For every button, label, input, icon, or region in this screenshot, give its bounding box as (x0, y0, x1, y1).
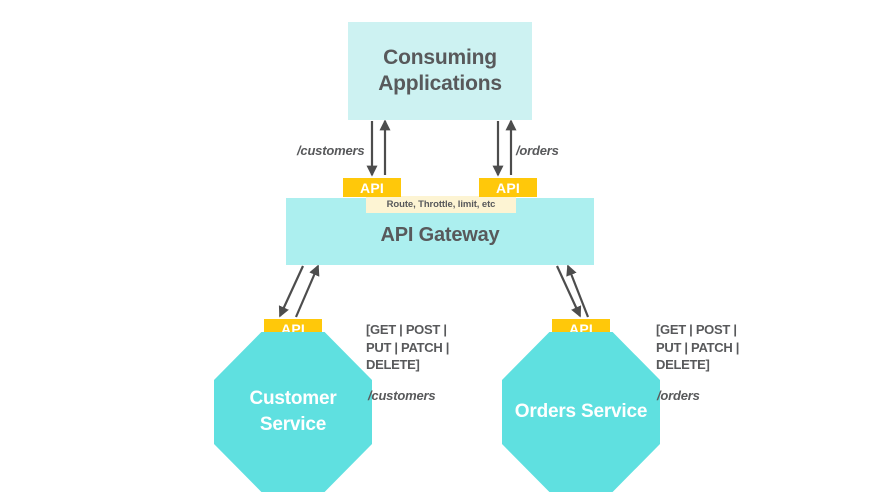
api-badge-gateway-customers[interactable]: API (343, 178, 401, 197)
arrow-gateway-to-customer-service (280, 266, 303, 316)
http-methods-orders-service: [GET | POST | PUT | PATCH | DELETE] (656, 321, 739, 374)
orders-path-label-top: /orders (516, 143, 559, 158)
diagram-canvas: Consuming Applications /customers /order… (0, 0, 880, 495)
api-badge-gateway-orders[interactable]: API (479, 178, 537, 197)
customer-service-node[interactable]: Customer Service (214, 332, 372, 492)
customers-path-label-service: /customers (368, 388, 435, 403)
consuming-applications-label: Consuming Applications (348, 45, 532, 98)
customers-path-label-top: /customers (297, 143, 364, 158)
orders-service-label: Orders Service (515, 399, 647, 425)
orders-service-node[interactable]: Orders Service (502, 332, 660, 492)
orders-path-label-service: /orders (657, 388, 700, 403)
arrow-gateway-to-orders-service (557, 266, 580, 316)
gateway-features-note: Route, Throttle, limit, etc (366, 196, 516, 213)
arrow-orders-service-to-gateway (568, 266, 588, 317)
consuming-applications-node[interactable]: Consuming Applications (348, 22, 532, 120)
http-methods-customer-service: [GET | POST | PUT | PATCH | DELETE] (366, 321, 449, 374)
customer-service-label: Customer Service (214, 386, 372, 437)
arrow-customer-service-to-gateway (296, 266, 318, 317)
api-gateway-label: API Gateway (381, 224, 500, 247)
